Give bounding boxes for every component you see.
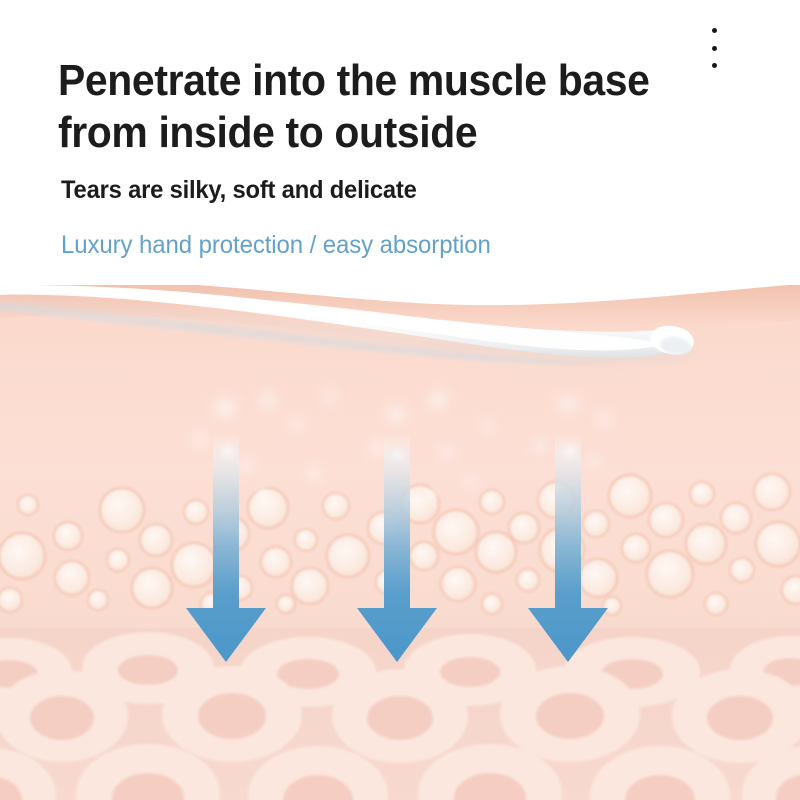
product-banner: Penetrate into the muscle base from insi… — [0, 0, 800, 800]
subtitle-text: Tears are silky, soft and delicate — [61, 176, 417, 205]
tagline-text: Luxury hand protection / easy absorption — [61, 231, 491, 260]
kebab-dot-3 — [712, 63, 717, 68]
kebab-dot-2 — [712, 46, 717, 51]
page-title: Penetrate into the muscle base from insi… — [58, 55, 690, 159]
kebab-dot-1 — [712, 28, 717, 33]
header-text-panel: Penetrate into the muscle base from insi… — [0, 0, 800, 285]
kebab-menu-icon[interactable] — [706, 28, 722, 68]
